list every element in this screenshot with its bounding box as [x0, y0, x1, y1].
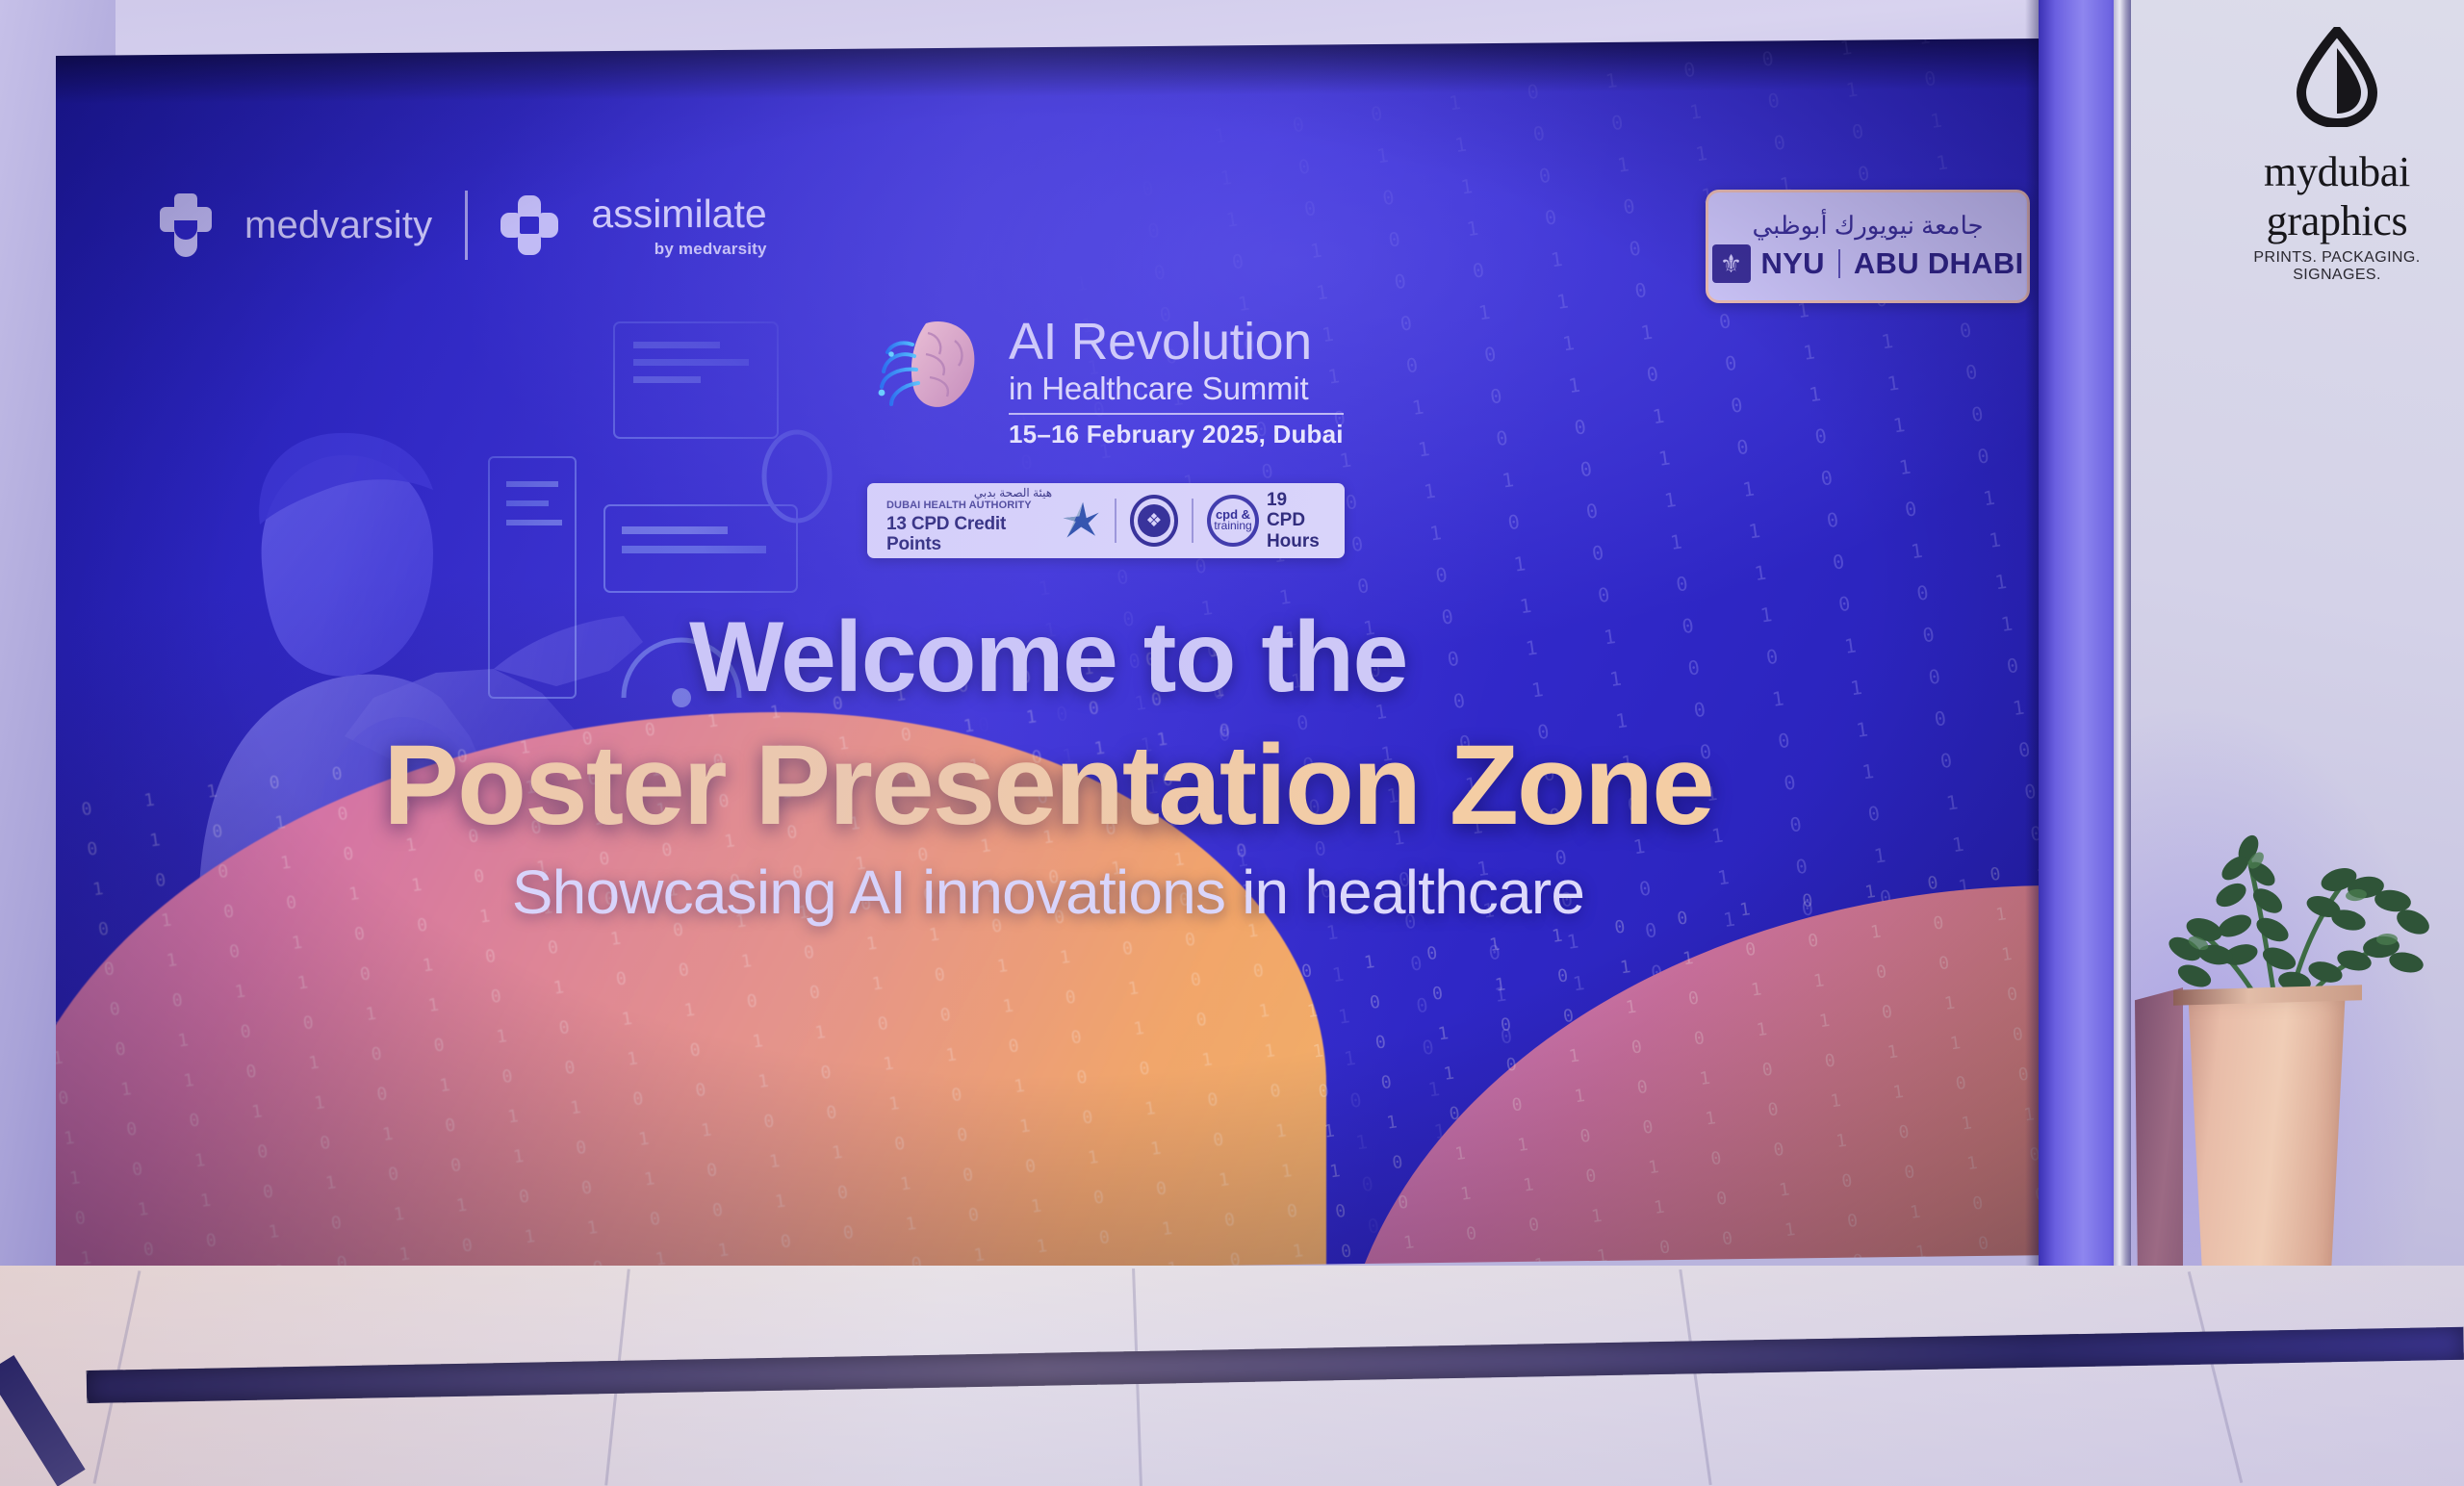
cpd-mark-line2: training — [1214, 521, 1251, 531]
assimilate-wordmark-block: assimilate by medvarsity — [591, 194, 766, 257]
nyu-abu-dhabi-badge: جامعة نيويورك أبوظبي ⚜ NYU ABU DHABI — [1706, 190, 2030, 303]
cpd-hours-line2: Hours — [1267, 531, 1325, 551]
dha-falcon-icon — [1060, 499, 1101, 543]
assimilate-cross-icon — [500, 195, 558, 255]
headline-zone: Poster Presentation Zone — [56, 720, 2040, 851]
accreditation-bar: هيئة الصحة بدبي DUBAI HEALTH AUTHORITY 1… — [867, 483, 1345, 558]
water-drop-icon — [2296, 27, 2378, 127]
scene: 0 1 0 1 1 0 0 1 0 1 0 0 1 1 0 1 0 0 1 0 … — [0, 0, 2464, 1486]
assimilate-byline: by medvarsity — [654, 241, 767, 257]
medvarsity-wordmark: medvarsity — [244, 204, 432, 247]
seal-center: ❖ — [1138, 504, 1170, 537]
summit-rule — [1009, 413, 1344, 415]
cpd-training-accreditation: cpd & training 19 CPD Hours — [1207, 490, 1325, 551]
accreditation-divider-2 — [1192, 499, 1193, 543]
mydubai-graphics-watermark: mydubai graphics PRINTS. PACKAGING. SIGN… — [2214, 27, 2460, 284]
dha-accreditation: هيئة الصحة بدبي DUBAI HEALTH AUTHORITY 1… — [886, 487, 1101, 554]
dha-arabic: هيئة الصحة بدبي — [886, 487, 1052, 500]
zz-plant — [2135, 741, 2452, 1319]
watermark-tagline: PRINTS. PACKAGING. SIGNAGES. — [2214, 249, 2460, 284]
recomed-certified-seal-icon: ❖ — [1130, 495, 1179, 547]
nyu-separator — [1838, 249, 1840, 278]
logo-divider — [465, 191, 468, 260]
wave-right: 0 1 0 1 1 0 0 1 0 1 0 0 1 1 0 1 0 0 1 0 … — [1336, 885, 2040, 1280]
headline-welcome: Welcome to the — [56, 601, 2040, 715]
dha-credit-points: 13 CPD Credit Points — [886, 514, 1052, 555]
nyu-campus: ABU DHABI — [1854, 246, 2024, 281]
pillar-metal-edge — [2114, 0, 2131, 1367]
nyu-torch-icon: ⚜ — [1712, 244, 1751, 283]
medical-cross-icon — [160, 193, 212, 257]
watermark-name: mydubai graphics — [2214, 147, 2460, 245]
accreditation-divider-1 — [1115, 499, 1116, 543]
headline-subtitle: Showcasing AI innovations in healthcare — [56, 857, 2040, 928]
planter-side — [2135, 987, 2183, 1305]
assimilate-wordmark: assimilate — [591, 194, 766, 234]
brain-icon — [870, 316, 988, 416]
summit-subtitle: in Healthcare Summit — [1009, 371, 1344, 406]
dha-text: هيئة الصحة بدبي DUBAI HEALTH AUTHORITY 1… — [886, 487, 1052, 554]
nyu-latin-row: ⚜ NYU ABU DHABI — [1712, 244, 2024, 283]
cpd-hours-text: 19 CPD Hours — [1267, 490, 1325, 551]
sponsor-logo-row: medvarsity assimilate by medvarsity — [160, 191, 767, 260]
nyu-arabic-name: جامعة نيويورك أبوظبي — [1752, 211, 1983, 241]
welcome-banner: 0 1 0 1 1 0 0 1 0 1 0 0 1 1 0 1 0 0 1 0 … — [56, 38, 2040, 1280]
cpd-hours-line1: 19 CPD — [1267, 490, 1325, 531]
nyu-abbrev: NYU — [1761, 246, 1825, 281]
cpd-training-icon: cpd & training — [1207, 495, 1259, 547]
summit-dateline: 15–16 February 2025, Dubai — [1009, 420, 1344, 449]
summit-title: AI Revolution — [1009, 316, 1344, 369]
summit-lockup: AI Revolution in Healthcare Summit 15–16… — [870, 316, 1344, 449]
dha-english: DUBAI HEALTH AUTHORITY — [886, 500, 1052, 511]
summit-text: AI Revolution in Healthcare Summit 15–16… — [1009, 316, 1344, 449]
